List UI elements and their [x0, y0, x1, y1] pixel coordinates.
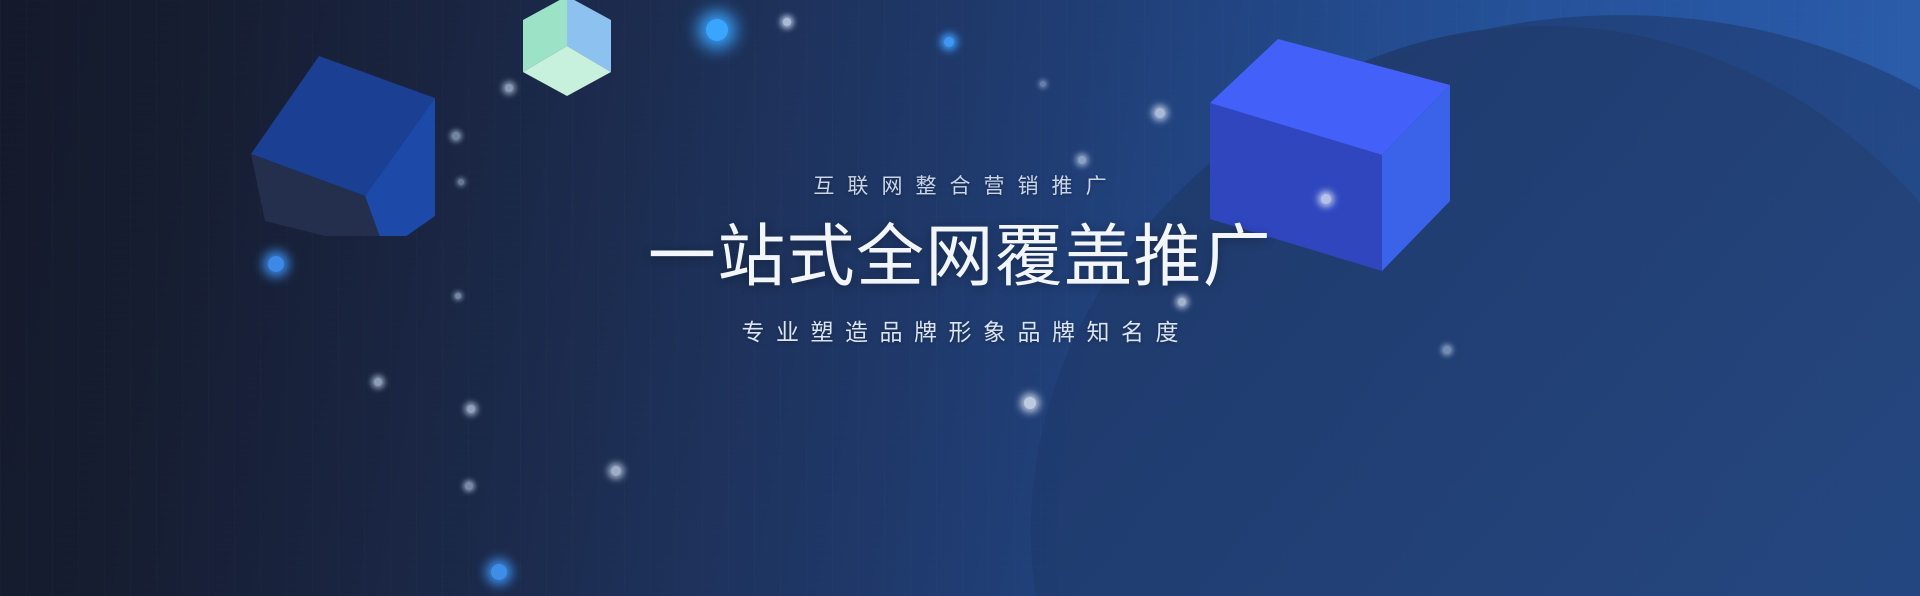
particle-dot: [706, 19, 728, 41]
particle-dot: [467, 405, 475, 413]
particle-dot: [374, 378, 382, 386]
particle-dot: [1078, 156, 1086, 164]
particle-dot: [1024, 397, 1036, 409]
mint-green-cube-icon: [519, 0, 615, 98]
banner-copy: 互联网整合营销推广 一站式全网覆盖推广 专业塑造品牌形象品牌知名度: [0, 176, 1920, 344]
particle-dot: [1443, 346, 1451, 354]
banner-headline: 一站式全网覆盖推广: [0, 223, 1920, 291]
particle-dot: [611, 466, 621, 476]
particle-dot: [465, 482, 473, 490]
particle-dot: [491, 564, 507, 580]
particle-dot: [783, 18, 791, 26]
particle-dot: [944, 37, 954, 47]
banner-eyebrow: 互联网整合营销推广: [0, 176, 1920, 197]
particle-dot: [1040, 81, 1046, 87]
particle-dot: [452, 132, 460, 140]
particle-dot: [505, 84, 513, 92]
banner-tagline: 专业塑造品牌形象品牌知名度: [0, 321, 1920, 344]
particle-dot: [1155, 108, 1165, 118]
hero-banner: 互联网整合营销推广 一站式全网覆盖推广 专业塑造品牌形象品牌知名度: [0, 0, 1920, 596]
